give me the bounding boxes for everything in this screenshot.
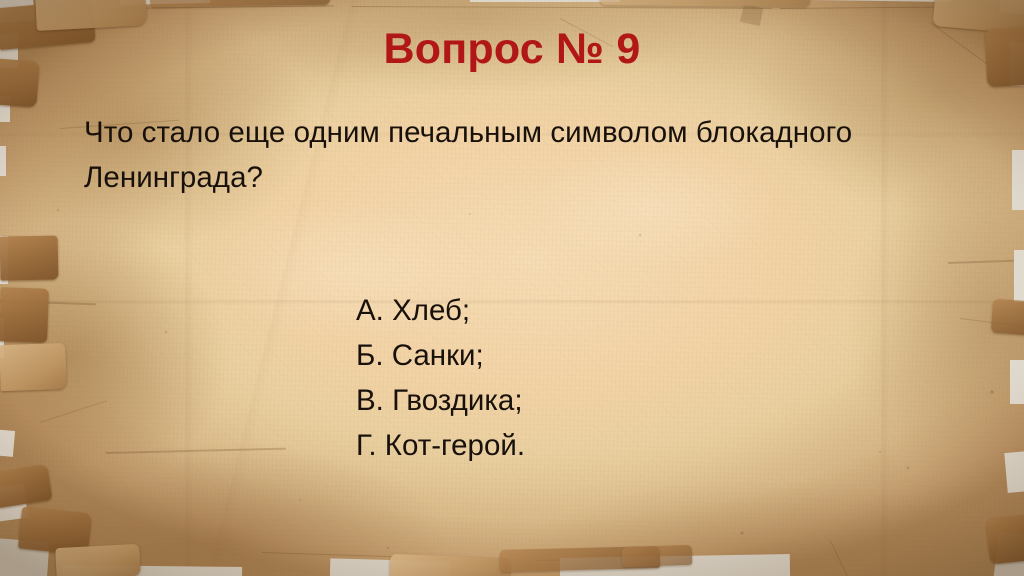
answer-options-list: А. Хлеб; Б. Санки; В. Гвоздика; Г. Кот-г… [356,288,525,468]
answer-option-a[interactable]: А. Хлеб; [356,288,525,333]
answer-option-c[interactable]: В. Гвоздика; [356,378,525,423]
question-text: Что стало еще одним печальным символом б… [84,110,974,200]
page-title: Вопрос № 9 [0,24,1024,75]
quiz-slide: Вопрос № 9 Что стало еще одним печальным… [0,0,1024,576]
answer-option-b[interactable]: Б. Санки; [356,333,525,378]
answer-option-d[interactable]: Г. Кот-герой. [356,423,525,468]
